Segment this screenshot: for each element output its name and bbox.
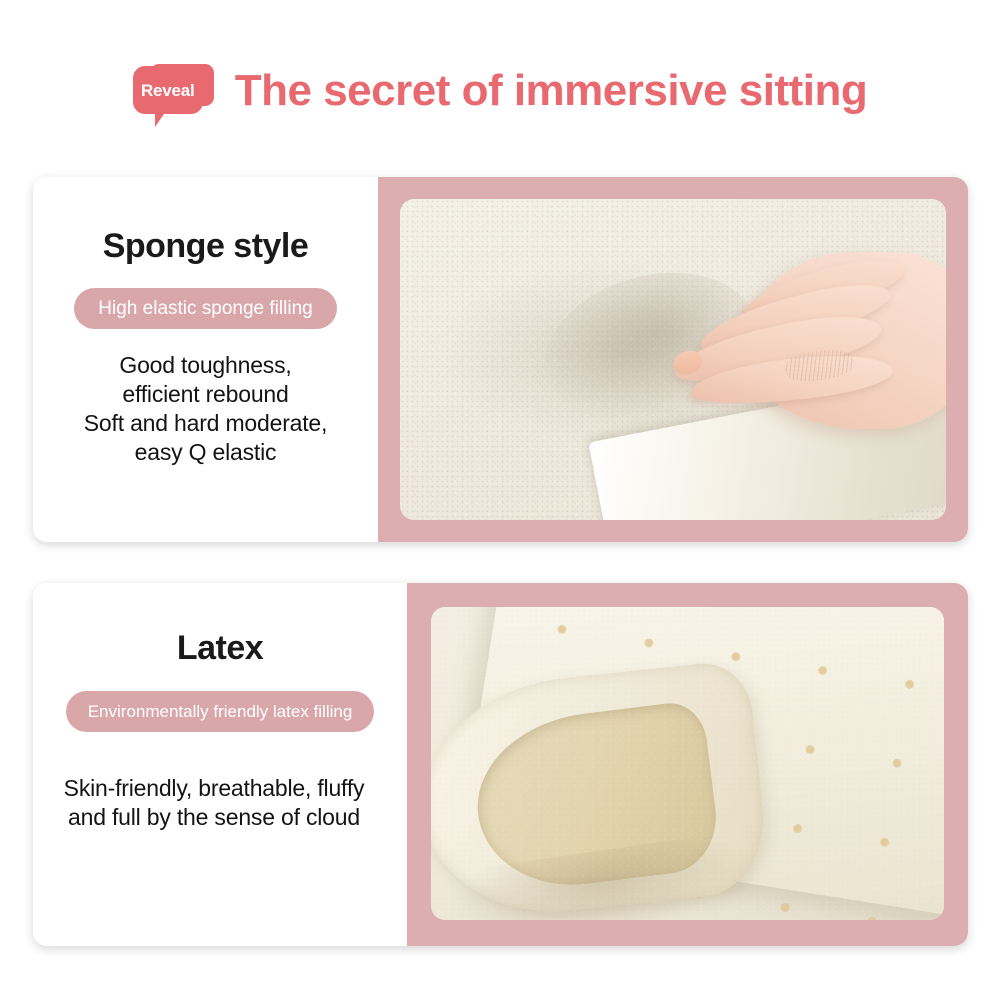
- reveal-badge-label: Reveal: [141, 82, 195, 99]
- product-feature-page: Reveal The secret of immersive sitting S…: [0, 0, 1000, 1000]
- feature-card-sponge: Sponge style High elastic sponge filling…: [33, 177, 968, 542]
- reveal-speech-bubble-badge: Reveal: [133, 61, 219, 123]
- feature-card-latex-text: Latex Environmentally friendly latex fil…: [33, 583, 407, 946]
- feature-photo-latex: [431, 607, 944, 920]
- page-title: The secret of immersive sitting: [235, 68, 868, 114]
- feature-card-latex: Latex Environmentally friendly latex fil…: [33, 583, 968, 946]
- page-header: Reveal The secret of immersive sitting: [0, 48, 1000, 134]
- feature-title-sponge: Sponge style: [103, 229, 309, 263]
- feature-body-latex: Skin-friendly, breathable, fluffy and fu…: [33, 774, 399, 832]
- speech-bubble-tail-icon: [155, 111, 173, 127]
- feature-pill-sponge: High elastic sponge filling: [74, 288, 336, 329]
- feature-title-latex: Latex: [177, 631, 263, 665]
- feature-body-line: efficient rebound: [84, 380, 327, 409]
- reveal-badge-body: Reveal: [133, 66, 203, 114]
- feature-photo-frame-sponge: [378, 177, 968, 542]
- hand-pressing: [629, 244, 946, 449]
- feature-body-line: Good toughness,: [84, 351, 327, 380]
- feature-card-sponge-text: Sponge style High elastic sponge filling…: [33, 177, 378, 542]
- feature-body-line: easy Q elastic: [84, 438, 327, 467]
- feature-pill-latex: Environmentally friendly latex filling: [66, 691, 375, 732]
- feature-photo-frame-latex: [407, 583, 968, 946]
- latex-texture: [431, 607, 944, 920]
- feature-body-line: Skin-friendly, breathable, fluffy: [33, 774, 399, 803]
- feature-body-sponge: Good toughness, efficient rebound Soft a…: [84, 351, 327, 467]
- feature-photo-sponge: [400, 199, 946, 520]
- feature-body-line: Soft and hard moderate,: [84, 409, 327, 438]
- feature-body-line: and full by the sense of cloud: [33, 803, 399, 832]
